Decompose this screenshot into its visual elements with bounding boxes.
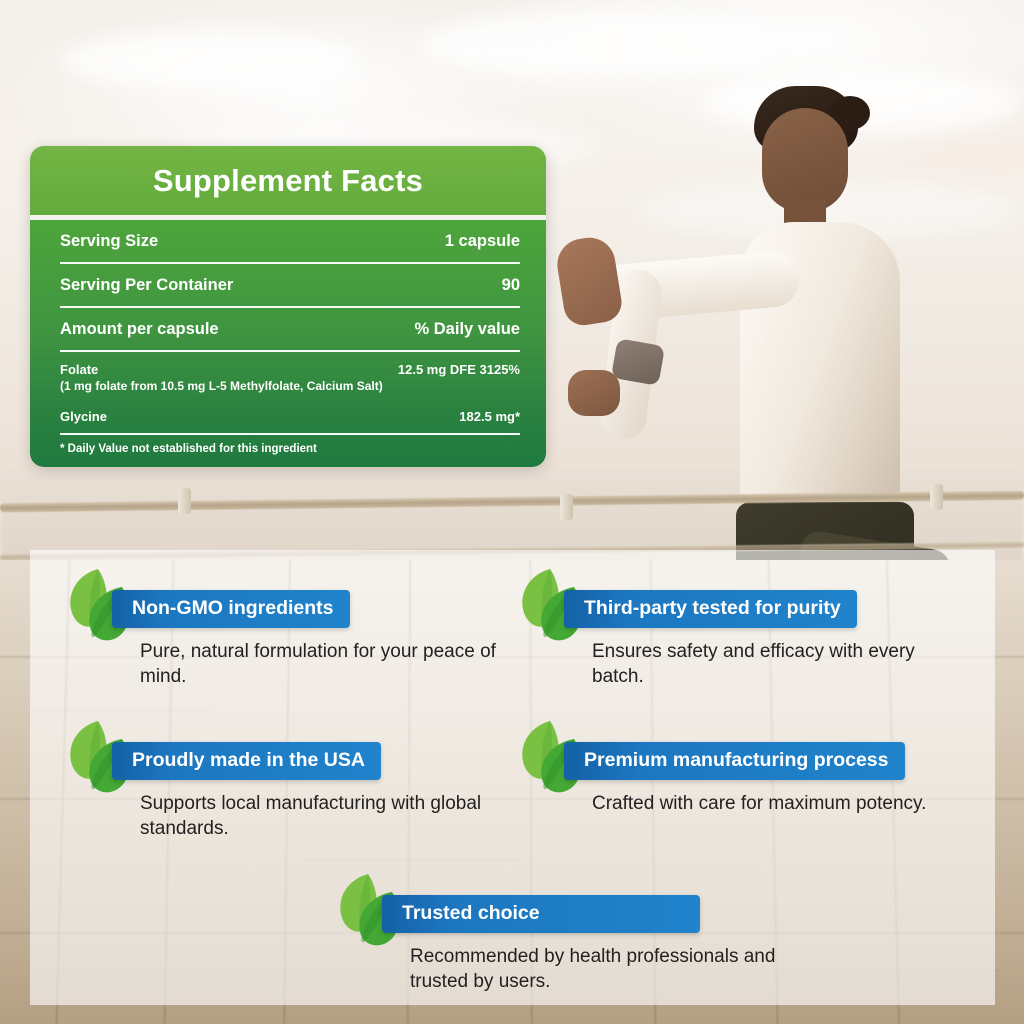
ingredient-name: Folate [60,362,98,377]
benefit-description: Supports local manufacturing with global… [140,791,510,841]
ingredient-row-glycine: Glycine 182.5 mg* [60,399,520,435]
ingredient-detail: (1 mg folate from 10.5 mg L-5 Methylfola… [60,379,390,395]
ingredient-name: Glycine [60,409,107,424]
row-label: Serving Size [60,232,158,251]
benefit-title: Non-GMO ingredients [132,597,334,619]
benefit-title-banner: Proudly made in the USA [112,742,381,780]
ingredient-amount: 12.5 mg DFE 3125% [398,362,520,377]
row-value: % Daily value [415,320,520,339]
supplement-facts-header: Supplement Facts [30,146,546,215]
row-value: 1 capsule [445,232,520,251]
benefit-description: Recommended by health professionals and … [410,944,830,994]
benefit-title-banner: Premium manufacturing process [564,742,905,780]
facts-row-amount-per-capsule: Amount per capsule % Daily value [60,308,520,352]
ingredient-amount: 182.5 mg* [459,409,520,424]
railing-post [560,494,573,520]
benefit-title: Premium manufacturing process [584,749,889,771]
supplement-facts-title: Supplement Facts [30,163,546,199]
benefit-title-banner: Third-party tested for purity [564,590,857,628]
daily-value-footnote: * Daily Value not established for this i… [60,435,520,467]
benefit-title-banner: Non-GMO ingredients [112,590,350,628]
athlete-arm-band [611,338,665,386]
benefit-title: Trusted choice [402,902,540,924]
facts-row-serving-per-container: Serving Per Container 90 [60,264,520,308]
benefit-title: Proudly made in the USA [132,749,365,771]
athlete-head [762,108,848,212]
benefit-description: Crafted with care for maximum potency. [592,791,962,816]
ingredient-row-folate: Folate 12.5 mg DFE 3125% (1 mg folate fr… [60,352,520,399]
facts-row-serving-size: Serving Size 1 capsule [60,220,520,264]
row-value: 90 [502,276,520,295]
row-label: Amount per capsule [60,320,219,339]
row-label: Serving Per Container [60,276,233,295]
railing-post [178,488,191,514]
supplement-facts-panel: Supplement Facts Serving Size 1 capsule … [30,146,546,467]
benefit-description: Pure, natural formulation for your peace… [140,639,510,689]
athlete-fist [568,370,620,416]
benefits-overlay-panel: Non-GMO ingredients Pure, natural formul… [30,550,995,1005]
benefit-title: Third-party tested for purity [584,597,841,619]
cloud [60,30,360,90]
supplement-facts-body: Serving Size 1 capsule Serving Per Conta… [30,220,546,467]
benefit-title-banner: Trusted choice [382,895,700,933]
railing-post [930,484,943,510]
benefit-description: Ensures safety and efficacy with every b… [592,639,962,689]
